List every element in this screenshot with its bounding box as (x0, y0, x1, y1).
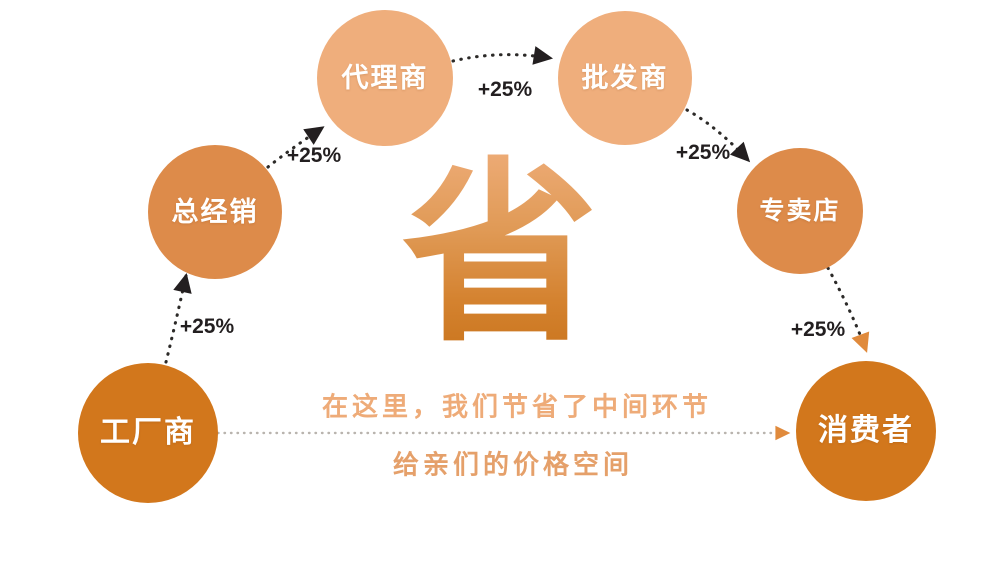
node-store[interactable]: 专卖店 (737, 148, 863, 274)
node-wholesaler-label: 批发商 (582, 65, 669, 92)
node-agent-label: 代理商 (342, 65, 429, 92)
node-distributor[interactable]: 总经销 (148, 145, 282, 279)
center-glyph-character: 省 (400, 150, 600, 360)
edge-label-factory-to-distributor: +25% (180, 315, 234, 339)
node-wholesaler[interactable]: 批发商 (558, 11, 692, 145)
tagline-bottom: 给亲们的价格空间 (393, 445, 633, 482)
node-agent[interactable]: 代理商 (317, 10, 453, 146)
edge-label-wholesaler-to-store: +25% (676, 141, 730, 165)
edge-label-agent-to-wholesaler: +25% (478, 78, 532, 102)
center-glyph-save: 省 (400, 150, 600, 360)
node-store-label: 专卖店 (759, 199, 840, 224)
node-factory[interactable]: 工厂商 (78, 363, 218, 503)
connector-agent-to-wholesaler (453, 55, 550, 61)
tagline-top: 在这里，我们节省了中间环节 (322, 387, 712, 424)
node-factory-label: 工厂商 (100, 418, 196, 448)
node-distributor-label: 总经销 (172, 199, 259, 226)
diagram-canvas: 省 工厂商 总经销 代理商 批发商 专卖店 消费者 +25% +25% +25%… (0, 0, 1000, 563)
edge-label-store-to-consumer: +25% (791, 318, 845, 342)
node-consumer-label: 消费者 (818, 416, 914, 446)
edge-label-distributor-to-agent: +25% (287, 144, 341, 168)
node-consumer[interactable]: 消费者 (796, 361, 936, 501)
